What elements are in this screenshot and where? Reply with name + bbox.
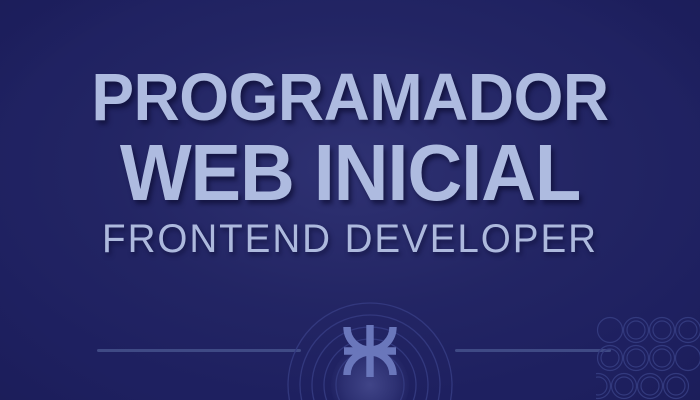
left-divider-rule <box>97 349 301 352</box>
concentric-arcs-icon <box>268 283 478 400</box>
right-divider-rule <box>455 349 611 352</box>
asterisk-starburst-icon <box>341 322 399 380</box>
course-title-banner: PROGRAMADOR WEB INICIAL FRONTEND DEVELOP… <box>0 0 700 400</box>
dotted-circle-grid-icon <box>596 316 700 400</box>
subtitle-line: FRONTEND DEVELOPER <box>12 219 688 259</box>
title-line-primary: PROGRAMADOR <box>16 64 685 131</box>
headline-block: PROGRAMADOR WEB INICIAL FRONTEND DEVELOP… <box>0 64 700 259</box>
title-line-secondary: WEB INICIAL <box>18 133 683 213</box>
logo-glow <box>331 346 409 400</box>
